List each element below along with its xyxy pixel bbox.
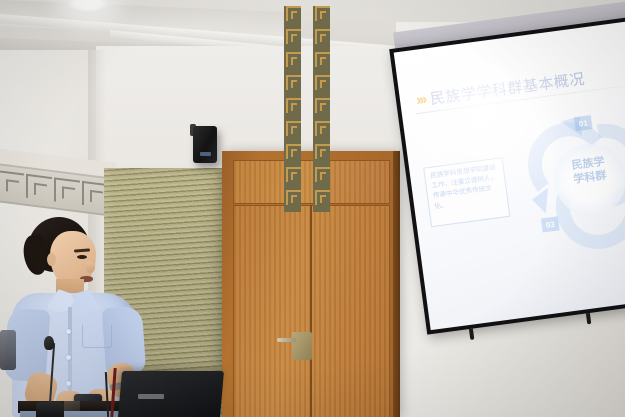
screen-hook-right [586, 313, 591, 324]
projected-slide: ››› 民族学学科群基本概况 民族学科思想学院建设工作，注重立德树人，传承中华优… [394, 20, 625, 331]
projection-screen-frame: ››› 民族学学科群基本概况 民族学科思想学院建设工作，注重立德树人，传承中华优… [389, 15, 625, 335]
door-lock-plate [292, 332, 312, 360]
conference-room-photo: ››› 民族学学科群基本概况 民族学科思想学院建设工作，注重立德树人，传承中华优… [0, 0, 625, 417]
presenter-shirt-pocket [82, 325, 112, 348]
presenter-nose [86, 261, 95, 273]
door-transom-panel [233, 160, 390, 204]
door-handle[interactable] [277, 338, 296, 342]
door-center-seam [310, 205, 312, 417]
loudspeaker-icon [193, 126, 217, 163]
chevron-right-icon: ››› [415, 91, 426, 109]
microphone-base [36, 402, 64, 417]
screen-hook-left [469, 329, 474, 340]
slide-badge-01: 01 [574, 115, 593, 131]
slide-badge-03: 03 [541, 216, 560, 232]
cycle-arrow-3 [531, 187, 548, 214]
slide-note-box: 民族学科思想学院建设工作，注重立德树人，传承中华优秀传统文化。 [423, 157, 510, 227]
laptop-brand-logo [138, 394, 164, 399]
door-side-trim [393, 151, 400, 417]
speaker-badge [200, 152, 211, 156]
laptop[interactable] [118, 371, 224, 417]
door-greek-key-inlay-left [284, 6, 301, 212]
slide-cycle-diagram: 民族学 学科群 01 02 03 [523, 112, 625, 247]
presenter-ear [47, 253, 56, 266]
door-greek-key-inlay-right [313, 6, 330, 212]
microphone-icon [44, 336, 54, 350]
projection-screen: ››› 民族学学科群基本概况 民族学科思想学院建设工作，注重立德树人，传承中华优… [381, 0, 625, 345]
background-chair [0, 330, 16, 370]
slide-title-row: ››› 民族学学科群基本概况 [415, 68, 586, 111]
presenter-eye [77, 255, 87, 259]
slide-title: 民族学学科群基本概况 [429, 68, 586, 109]
